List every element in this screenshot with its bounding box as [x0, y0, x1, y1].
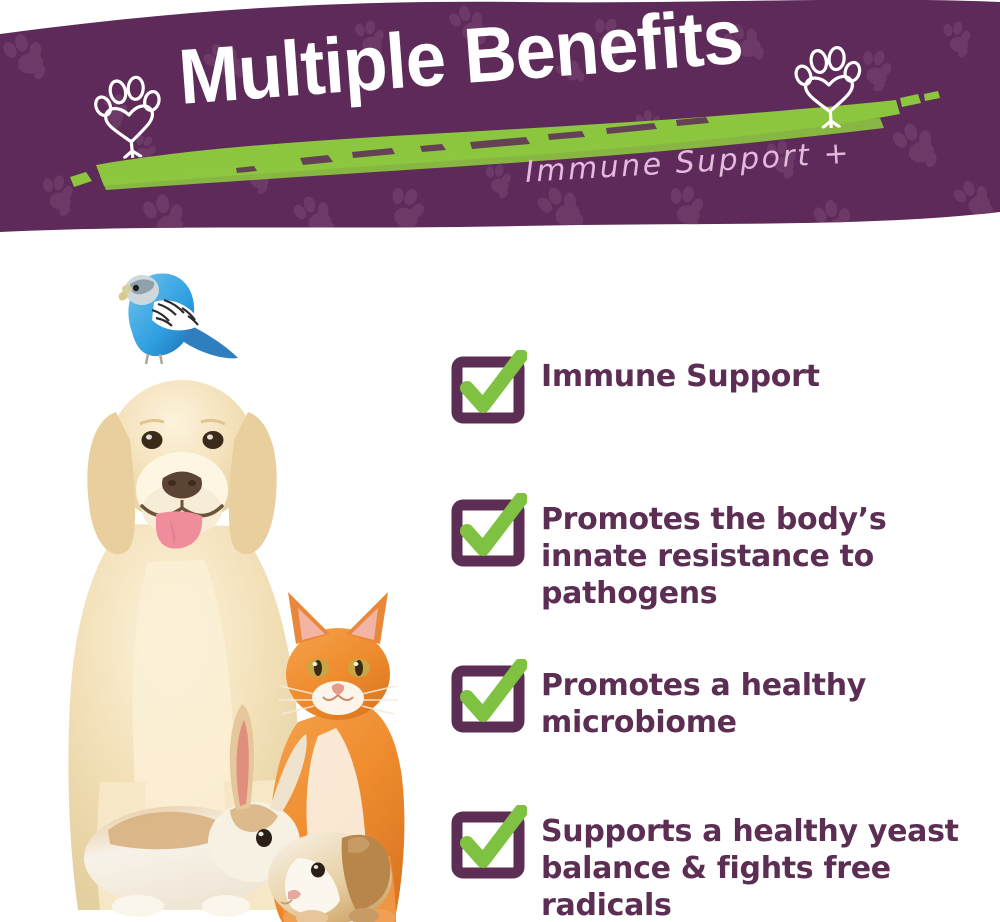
bird-budgie — [119, 273, 238, 364]
benefit-label: Promotes a healthy microbiome — [541, 659, 989, 741]
checkbox-checked-icon[interactable] — [449, 493, 527, 571]
benefit-label: Immune Support — [541, 350, 989, 395]
product-feature-graphic: Multiple Benefits Immune Support + — [0, 0, 1000, 922]
benefit-item[interactable]: Promotes the body’s innate resistance to… — [449, 493, 989, 612]
benefits-list: Immune Support Promotes the body’s innat… — [449, 350, 989, 922]
banner-fill — [0, 0, 1000, 250]
benefit-item[interactable]: Supports a healthy yeast balance & fight… — [449, 805, 989, 922]
banner-shape — [0, 0, 1000, 250]
checkbox-checked-icon[interactable] — [449, 805, 527, 883]
checkbox-checked-icon[interactable] — [449, 659, 527, 737]
benefit-label: Promotes the body’s innate resistance to… — [541, 493, 989, 612]
checkbox-checked-icon[interactable] — [449, 350, 527, 428]
benefit-item[interactable]: Immune Support — [449, 350, 989, 428]
header-banner: Multiple Benefits Immune Support + — [0, 0, 1000, 250]
benefit-item[interactable]: Promotes a healthy microbiome — [449, 659, 989, 741]
benefit-label: Supports a healthy yeast balance & fight… — [541, 805, 989, 922]
guinea-pig — [268, 832, 392, 922]
pet-group-photo — [30, 262, 430, 922]
